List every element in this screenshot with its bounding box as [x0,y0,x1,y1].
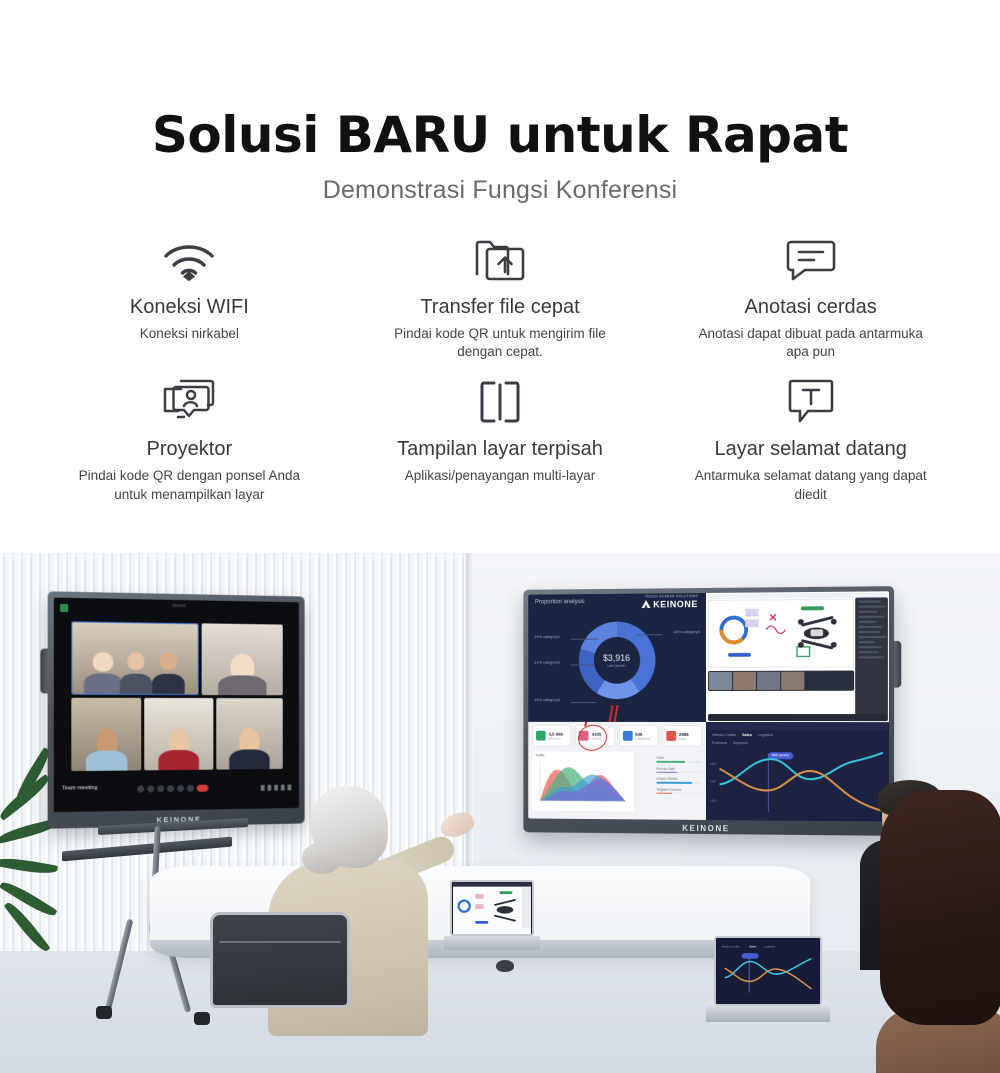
participant-tile[interactable] [72,698,142,771]
feature-desc: Koneksi nirkabel [140,325,239,343]
participant-tile[interactable] [72,621,199,695]
wifi-icon [161,231,217,289]
donut-label: 19% category3 [534,697,560,702]
stat-card[interactable]: 3,5 849 Revenue [532,725,571,747]
share-screen-icon[interactable] [157,785,164,792]
feature-desc: Antarmuka selamat datang yang dapat died… [686,467,936,503]
stat-label: Customers [635,737,650,741]
laptop-whiteboard-content [452,882,532,934]
promo-page: Solusi BARU untuk Rapat Demonstrasi Fung… [0,0,1000,1073]
legend-item: Targeted Sources [656,788,702,795]
stand-tray [62,837,232,862]
svg-text:100: 100 [710,799,716,803]
laptop-line-chart[interactable]: Vendor Codes Sales Logistics [706,936,830,1036]
legend-item: Unique Visitors [656,777,702,784]
whiteboard-panel[interactable] [706,591,889,722]
participants-icon[interactable] [167,785,174,792]
participant-tile[interactable] [216,698,283,770]
feature-anotasi-cerdas: Anotasi cerdas Anotasi dapat dibuat pada… [655,231,966,361]
feature-desc: Aplikasi/penayangan multi-layar [405,467,596,485]
attendee-foreground [880,790,1000,1073]
legend-item: Visits [656,756,702,763]
users-icon [666,731,676,741]
laptop-whiteboard[interactable] [444,880,540,964]
revenue-icon [536,731,546,741]
call-control-bar[interactable] [137,785,208,793]
page-title: Solusi BARU untuk Rapat [0,108,1000,162]
donut-label: 21% category2 [534,660,560,665]
proportion-analysis-panel[interactable]: Proportion analysis TOUCH SCREEN SOLUTIO… [528,593,706,722]
logo-text: KEINONE [653,599,698,609]
whiteboard-canvas[interactable] [708,599,854,668]
laptop-screen[interactable] [450,880,534,936]
donut-value: $3,916 [603,653,630,663]
feature-title: Proyektor [147,437,233,462]
mic-icon[interactable] [137,785,144,792]
page-subtitle: Demonstrasi Fungsi Konferensi [0,176,1000,205]
conference-room-photo: Team meeting [0,553,1000,1073]
welcome-text-bubble-icon [785,373,837,431]
feature-title: Layar selamat datang [714,437,906,462]
annotation-sketch [709,600,853,667]
feature-desc: Anotasi dapat dibuat pada antarmuka apa … [686,325,936,361]
chair-back [210,912,350,1008]
donut-label: 19% category1 [534,634,560,639]
camera-toggle-icon[interactable] [147,785,154,792]
legend-item: Bounce Rate [656,767,702,774]
participant-tile[interactable] [145,698,213,770]
donut-label: 40% category4 [674,629,701,634]
app-badge-icon [60,604,68,612]
stat-card-row: 3,5 849 Revenue 4435 Orders [532,725,702,747]
chair-seam [219,941,341,943]
caster-wheel [96,1006,112,1019]
chat-icon[interactable] [177,785,184,792]
camera-icon [172,604,186,607]
chat-sidebar[interactable] [855,597,888,720]
donut-chart: $3,916 Last Quarter [578,622,655,700]
page-header: Solusi BARU untuk Rapat Demonstrasi Fung… [0,0,1000,205]
annotation-bubble-icon [784,231,838,289]
feature-title: Transfer file cepat [420,295,579,320]
annotation-stroke [613,705,618,722]
stat-label: Users [679,737,689,741]
participant-filmstrip[interactable] [708,671,854,691]
svg-text:Logistics: Logistics [764,944,776,948]
feature-title: Koneksi WIFI [130,295,249,320]
mouse[interactable] [496,960,514,972]
end-call-button[interactable] [197,785,209,792]
stat-card[interactable]: 546 Customers [618,725,658,747]
meeting-label: Team meeting [62,785,97,792]
feature-tampilan-layar-terpisah: Tampilan layar terpisah Aplikasi/penayan… [345,373,656,503]
analytics-panel[interactable]: 3,5 849 Revenue 4435 Orders [528,722,706,820]
svg-text:Sales: Sales [749,944,757,948]
laptop-keyboard[interactable] [444,936,540,950]
legend-label: Unique Visitors [656,777,702,781]
dashboard-screen[interactable]: Proportion analysis TOUCH SCREEN SOLUTIO… [528,591,889,821]
office-chair [210,912,350,1062]
projector-screen-share-icon [160,373,218,431]
area-chart-legend: Visits Bounce Rate Unique Visitors [656,756,702,798]
laptop-line-chart-content: Vendor Codes Sales Logistics [716,938,820,1004]
participant-tile[interactable] [202,623,283,695]
mountain-logo-icon [640,598,651,609]
stat-label: Revenue [549,737,563,741]
feature-transfer-file-cepat: Transfer file cepat Pindai kode QR untuk… [345,231,656,361]
keinone-logo: KEINONE [640,598,698,609]
customers-icon [622,731,632,741]
legend-label: Targeted Sources [656,788,702,792]
feature-proyektor: Proyektor Pindai kode QR dengan ponsel A… [34,373,345,503]
more-options-icon[interactable] [187,785,194,792]
display-bezel: Proportion analysis TOUCH SCREEN SOLUTIO… [523,586,894,836]
traffic-area-chart: Traffic [532,752,634,812]
split-screen-icon [477,373,523,431]
svg-text:Vendor Codes: Vendor Codes [722,944,740,948]
svg-text:200: 200 [710,780,716,784]
feature-layar-selamat-datang: Layar selamat datang Antarmuka selamat d… [655,373,966,503]
right-interactive-display[interactable]: Proportion analysis TOUCH SCREEN SOLUTIO… [523,586,894,836]
hair [880,790,1000,1025]
feature-grid: Koneksi WIFI Koneksi nirkabel Transfer f… [0,231,1000,504]
feature-title: Tampilan layar terpisah [397,437,603,462]
feature-desc: Pindai kode QR untuk mengirim file denga… [375,325,625,361]
legend-label: Bounce Rate [656,767,702,771]
donut-center: $3,916 Last Quarter [603,653,630,668]
feature-koneksi-wifi: Koneksi WIFI Koneksi nirkabel [34,231,345,361]
laptop-screen[interactable]: Vendor Codes Sales Logistics [714,936,822,1006]
meeting-controls[interactable] [708,714,888,721]
stand-leg [105,919,134,1012]
feature-title: Anotasi cerdas [745,295,877,320]
donut-sublabel: Last Quarter [603,664,630,668]
legend-label: Visits [656,756,702,760]
svg-text:400: 400 [710,762,716,766]
caster-wheel [194,1012,210,1025]
folder-upload-icon [473,231,527,289]
feature-desc: Pindai kode QR dengan ponsel Anda untuk … [64,467,314,503]
stat-card[interactable]: 2986 Users [662,725,702,747]
participant-grid [72,621,283,771]
laptop-keyboard[interactable] [706,1006,830,1022]
video-conference-screen[interactable]: Team meeting [54,598,299,813]
